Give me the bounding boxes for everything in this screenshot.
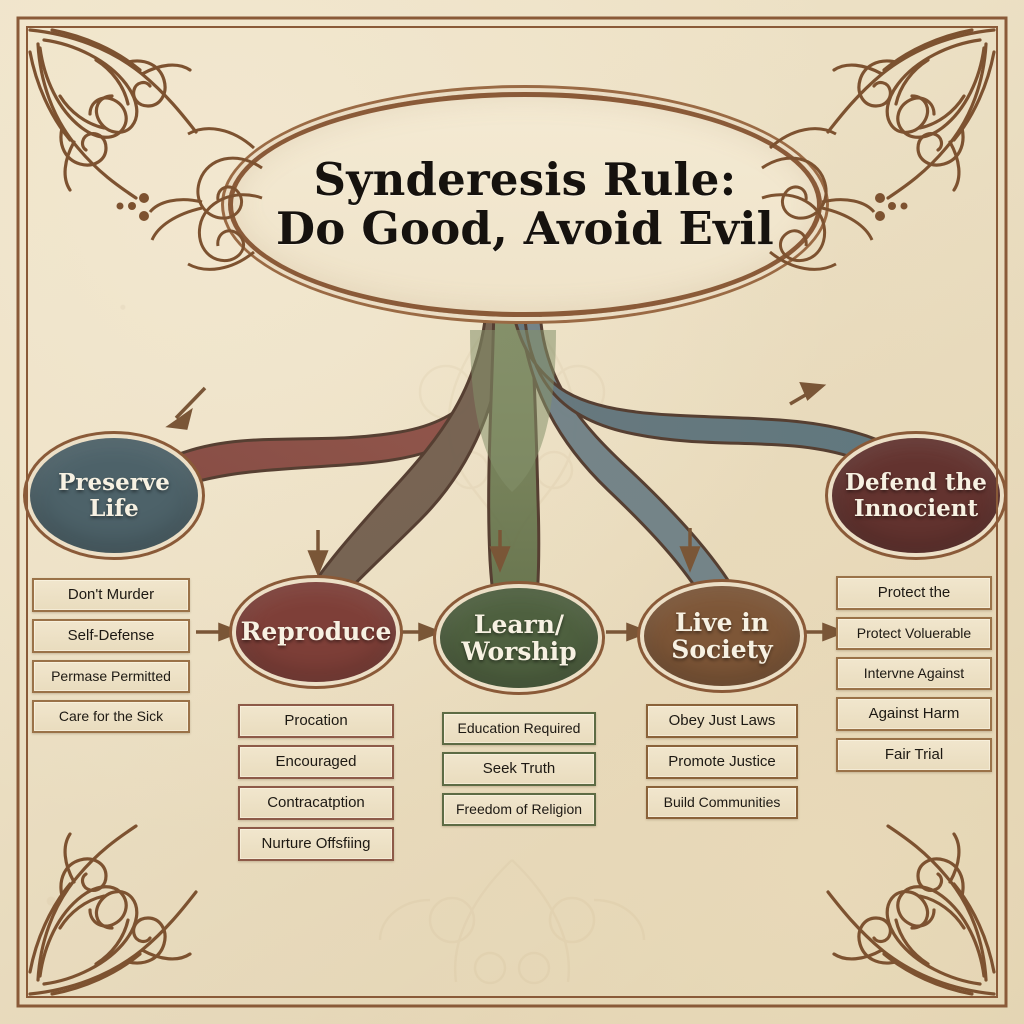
corner-flourish-top-left [30, 30, 196, 198]
scroll-filigree-left [117, 129, 263, 270]
corner-flourish-top-right [828, 30, 994, 198]
frame-outer-rule [18, 18, 1006, 1006]
decorative-frame [0, 0, 1024, 1024]
scroll-filigree-right [762, 129, 908, 270]
corner-flourish-bottom-left [30, 826, 196, 994]
frame-inner-rule [27, 27, 997, 997]
diagram-canvas: Synderesis Rule: Do Good, Avoid Evil Pre… [0, 0, 1024, 1024]
corner-flourish-bottom-right [828, 826, 994, 994]
